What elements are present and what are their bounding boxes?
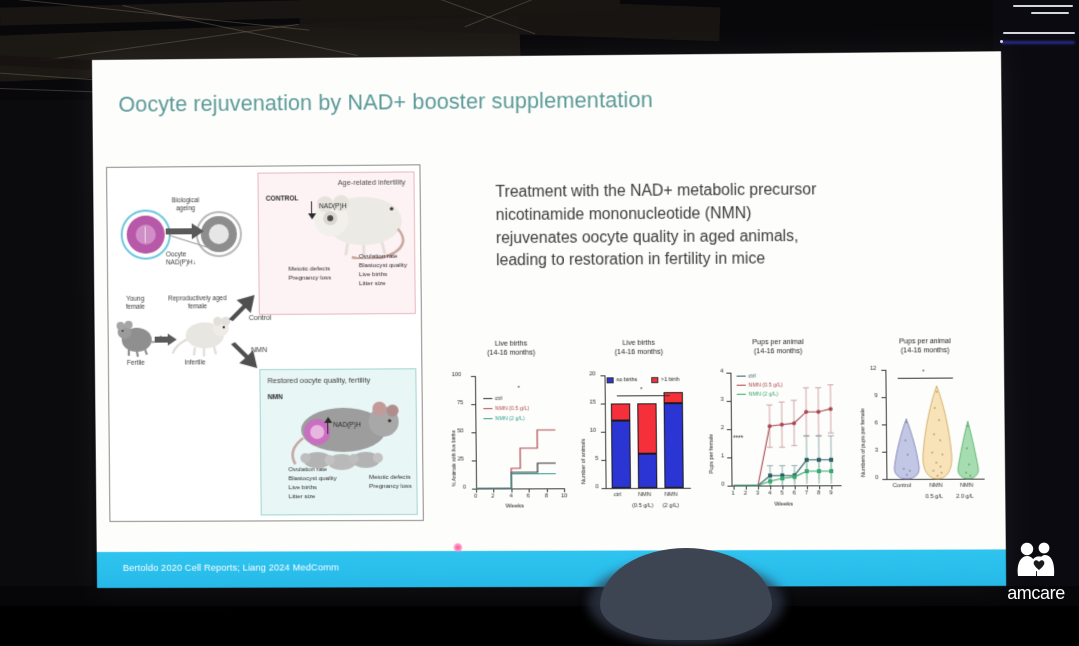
slide-footer-bar: Bertoldo 2020 Cell Reports; Liang 2024 M… (97, 549, 1006, 588)
chart-live-births-counts: Live births(14-16 months) 20 15 10 5 0 N… (576, 337, 704, 517)
chart2-xtick-sublabel: (0.5 g/L) (632, 503, 653, 509)
nmn-nadph-label: NAD(P)H (333, 422, 361, 429)
label-young-female: Youngfemale (114, 296, 156, 312)
chart3-legend-nmn05: NMN (0.5 g/L) (737, 382, 783, 388)
legend-dash (483, 418, 492, 420)
charts-row: Live births(14-16 months) 100 75 50 25 0 (448, 335, 993, 517)
stage-blue-light (1001, 41, 1075, 44)
stage-light-strip (1003, 32, 1075, 34)
slide-citation: Bertoldo 2020 Cell Reports; Liang 2024 M… (123, 562, 339, 573)
stage-light-dot (1000, 40, 1003, 43)
bar-nmn2-gt1-birth (664, 392, 683, 403)
legend-dash (737, 384, 746, 386)
stage-light-strip (1013, 5, 1073, 7)
chart2-title: Live births(14-16 months) (576, 339, 702, 359)
panel-restored-fertility: Restored oocyte quality, fertility NMN (259, 368, 417, 515)
bar-nmn2-no-births (664, 403, 684, 488)
nmn-decrease-items: Meiotic defectsPregnancy loss (369, 474, 412, 492)
stage-left-wall (0, 100, 92, 606)
ageing-transition-arrow-icon (155, 334, 177, 346)
label-branch-control: Control (249, 315, 289, 324)
conference-stage-background: Oocyte rejuvenation by NAD+ booster supp… (0, 0, 1079, 606)
label-oocyte-nadph: OocyteNAD(P)H↓ (166, 251, 216, 267)
body-line: leading to restoration in fertility in m… (496, 248, 923, 274)
chart4-xtick-label: NMN (960, 483, 973, 489)
chart1-series-plot (448, 337, 575, 517)
amcare-family-heart-icon (1014, 542, 1058, 578)
biological-ageing-arrow-icon (166, 223, 204, 239)
young-oocyte-spindle-line (145, 227, 146, 243)
label-infertile: Infertile (171, 359, 219, 367)
chart2-ytick-label: 10 (590, 428, 596, 434)
control-nadph-label: NAD(P)H (319, 203, 347, 210)
chart2-significance-star: * (640, 387, 642, 393)
chart2-legend-gt1-birth: >1 birth (651, 377, 679, 384)
chart2-ytick (602, 488, 606, 489)
chart2-ytick (601, 432, 605, 433)
aged-mouse-icon (171, 315, 234, 359)
panel-control-condition: CONTROL (266, 195, 299, 202)
legend-dash (483, 398, 492, 400)
nmn-mouse-with-pups-icon (283, 395, 411, 476)
chart2-xtick-sublabel: (2 g/L) (663, 503, 679, 509)
legend-dash (737, 375, 746, 377)
chart2-legend-no-births: no births (607, 377, 638, 384)
chart2-ytick (601, 460, 605, 461)
chart4-xtick-label: Control (893, 483, 912, 489)
chart1-legend-ctrl: ctrl (483, 396, 502, 402)
legend-dash (737, 394, 746, 396)
stage-right-wall (993, 0, 1079, 606)
control-decrease-items: Ovulation rateBlastocyst qualityLive bir… (359, 253, 408, 289)
label-fertile: Fertile (115, 360, 157, 368)
chart4-xtick-sublabel: 2.0 g/L (956, 494, 974, 500)
nmn-nadph-arrow-head (324, 417, 332, 423)
legend-dash (483, 408, 492, 410)
body-line: rejuvenates oocyte quality in aged anima… (496, 225, 923, 251)
body-line: Treatment with the NAD+ metabolic precur… (495, 178, 922, 204)
stage-light-strip (1031, 12, 1069, 14)
chart1-legend-nmn05: NMN (0.5 g/L) (483, 406, 529, 412)
chart2-ytick (601, 404, 605, 405)
presentation-slide: Oocyte rejuvenation by NAD+ booster supp… (92, 51, 1006, 588)
chart2-ylabel: Number of animals (581, 439, 588, 485)
control-nadph-arrow-head (308, 213, 316, 219)
chart3-legend-ctrl: ctrl (737, 374, 756, 380)
chart3-legend-nmn2: NMN (2 g/L) (737, 392, 779, 398)
chart2-xtick-label: NMN (664, 492, 677, 498)
slide-title: Oocyte rejuvenation by NAD+ booster supp… (118, 88, 653, 118)
legend-swatch (651, 377, 658, 383)
control-increase-items: Meiotic defectsPregnancy loss (288, 265, 331, 283)
chart3-series-plot (704, 336, 854, 516)
chart4-xtick-label: NMN (929, 483, 942, 489)
panel-nmn-condition: NMN (268, 394, 283, 401)
panel-nmn-heading: Restored oocyte quality, fertility (267, 376, 370, 386)
legend-swatch (607, 377, 614, 383)
chart1-legend-nmn2: NMN (2 g/L) (483, 416, 524, 422)
chart2-ytick (600, 375, 604, 376)
bar-ctrl-no-births (611, 420, 631, 488)
amcare-logo: amcare (999, 542, 1073, 602)
label-branch-nmn: NMN (251, 347, 285, 356)
chart2-ytick-label: 15 (590, 400, 596, 406)
nmn-increase-items: Ovulation rateBlastocyst qualityLive bir… (288, 466, 336, 502)
bar-nmn05-gt1-birth (637, 403, 657, 454)
bar-nmn05-no-births (638, 454, 658, 488)
label-biological-ageing: Biologicalageing (163, 197, 207, 213)
chart-pups-per-animal-violin: Pups per animal(14-16 months) 12 9 6 3 0… (854, 335, 993, 516)
chart2-xtick-label: NMN (638, 492, 651, 498)
chart4-xtick-sublabel: 0.5 g/L (925, 494, 943, 500)
chart-live-births-cumulative: Live births(14-16 months) 100 75 50 25 0 (448, 337, 575, 517)
chart2-ytick-label: 20 (589, 371, 595, 377)
figure-panel-oocyte-rejuvenation: Biologicalageing OocyteNAD(P)H↓ Youngfem… (106, 164, 424, 522)
slide-body-text: Treatment with the NAD+ metabolic precur… (495, 178, 923, 273)
amcare-wordmark: amcare (999, 584, 1073, 602)
body-line: nicotinamide mononucleotide (NMN) (496, 201, 923, 227)
chart2-ytick-label: 5 (595, 456, 598, 462)
label-aged-female: Reproductively agedfemale (164, 295, 230, 311)
bar-ctrl-gt1-birth (611, 403, 630, 420)
stage-bottom-shadow (0, 586, 1079, 606)
chart2-ytick-label: 0 (595, 484, 598, 490)
panel-age-related-infertility: Age-related infertility CONTROL NAD(P)H (257, 171, 415, 315)
laser-pointer-dot (453, 543, 462, 552)
chart-pups-per-animal-timecourse: Pups per animal(14-16 months) 4 3 2 1 0 … (704, 336, 854, 516)
control-mouse-icon (301, 185, 410, 260)
aged-oocyte-spindle (209, 224, 229, 244)
chart2-xtick-label: ctrl (614, 492, 622, 498)
chart2-significance-bar (617, 395, 670, 396)
